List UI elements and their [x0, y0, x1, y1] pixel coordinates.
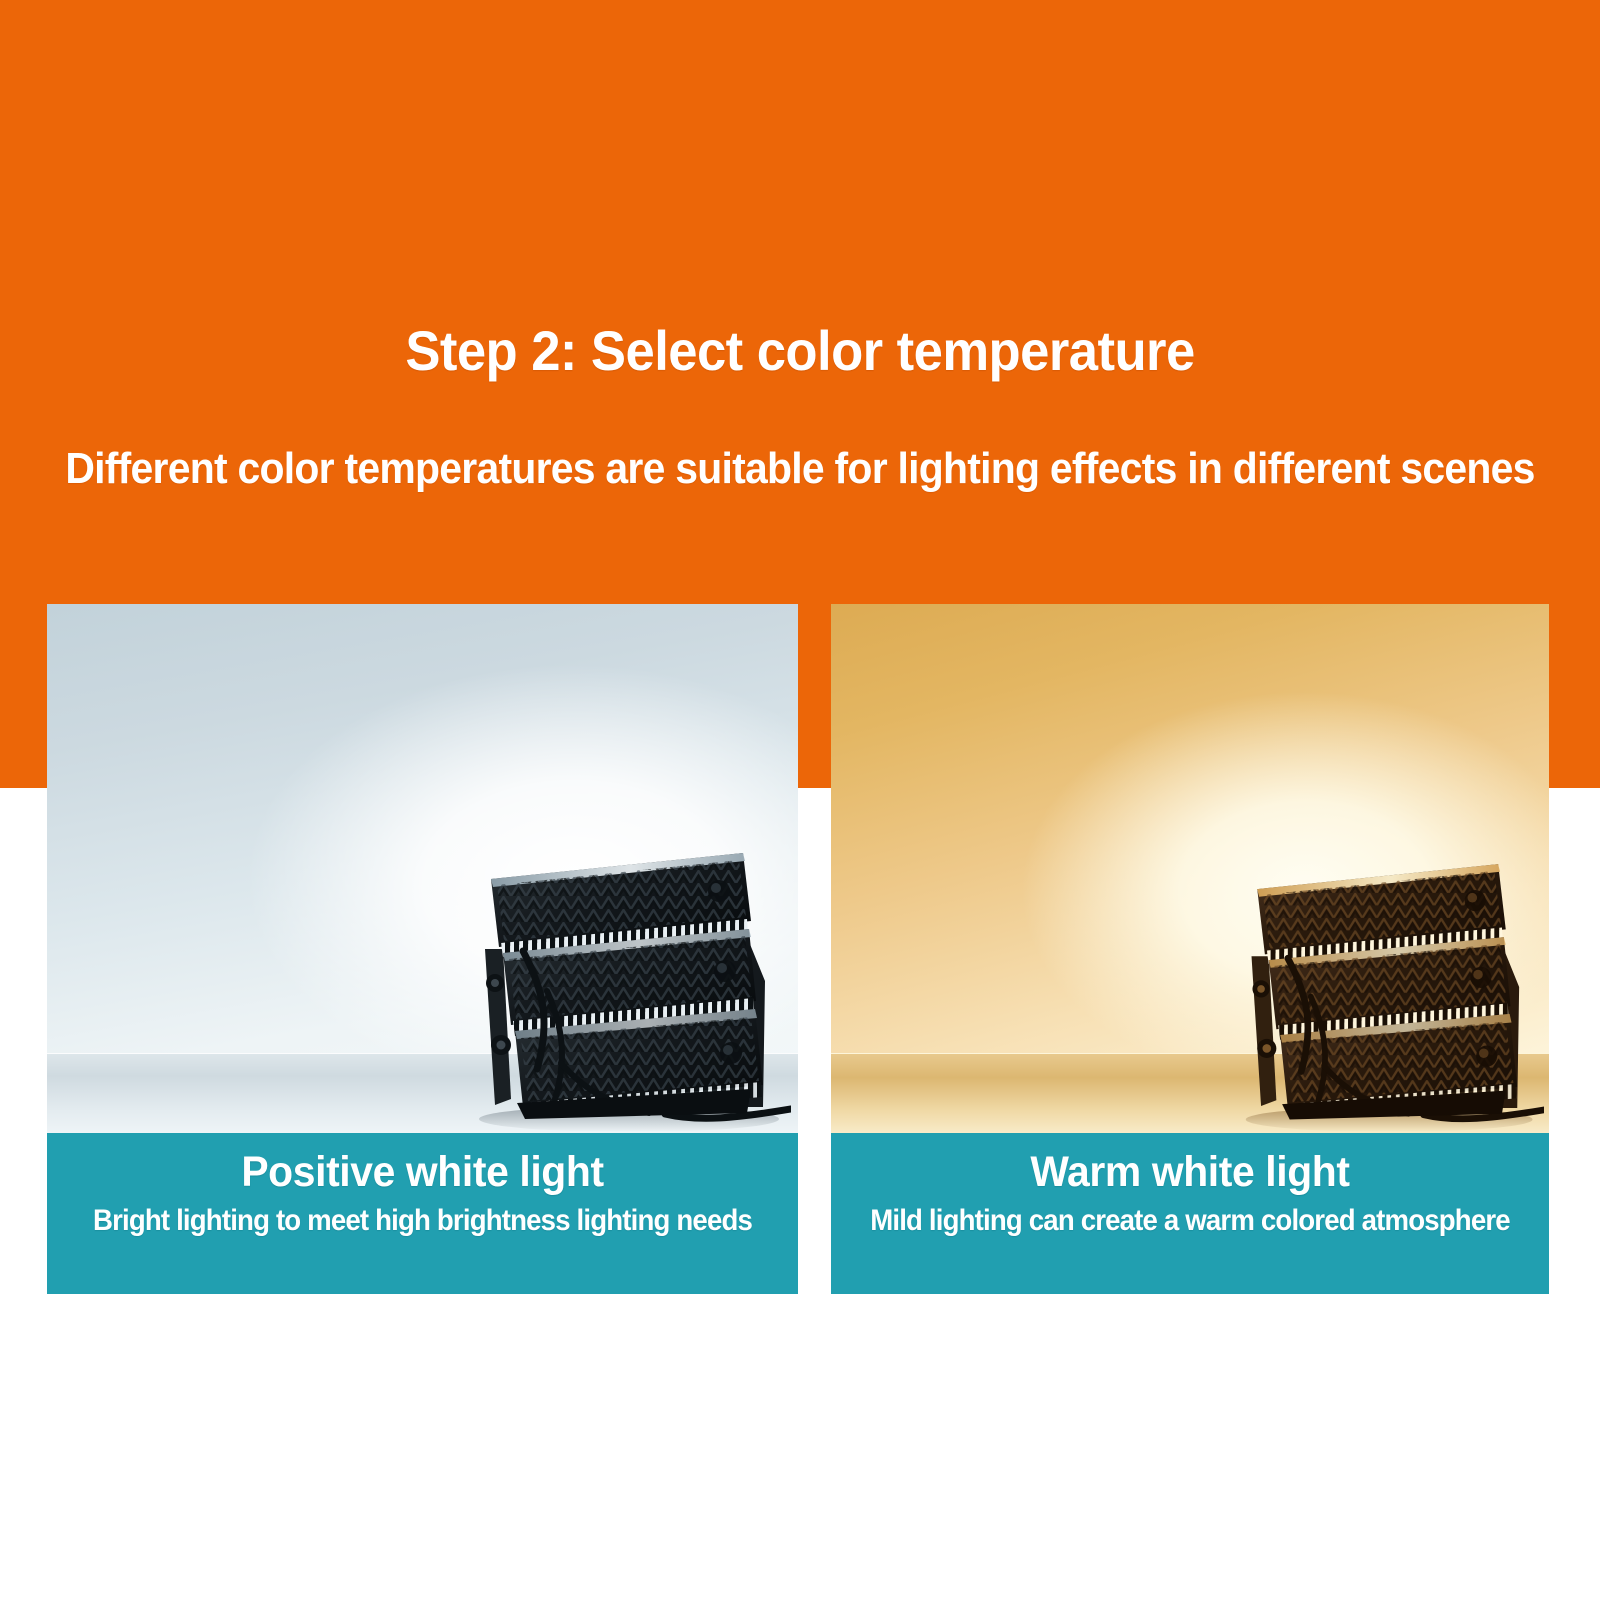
caption-title: Positive white light: [66, 1147, 779, 1198]
led-flood-light-icon: [1219, 843, 1544, 1131]
color-temperature-card-cool[interactable]: Positive white light Bright lighting to …: [47, 604, 798, 1294]
led-flood-light-icon: [451, 831, 791, 1131]
caption-title: Warm white light: [849, 1147, 1531, 1198]
caption-band-cool: Positive white light Bright lighting to …: [47, 1133, 798, 1294]
page-title: Step 2: Select color temperature: [48, 318, 1552, 383]
caption-band-warm: Warm white light Mild lighting can creat…: [831, 1133, 1549, 1294]
page-subtitle: Different color temperatures are suitabl…: [56, 444, 1544, 494]
caption-subtitle: Bright lighting to meet high brightness …: [77, 1204, 768, 1238]
product-photo-cool-white: [47, 604, 798, 1133]
product-photo-warm-white: [831, 604, 1549, 1133]
caption-subtitle: Mild lighting can create a warm colored …: [860, 1204, 1521, 1238]
color-temperature-card-warm[interactable]: Warm white light Mild lighting can creat…: [831, 604, 1549, 1294]
